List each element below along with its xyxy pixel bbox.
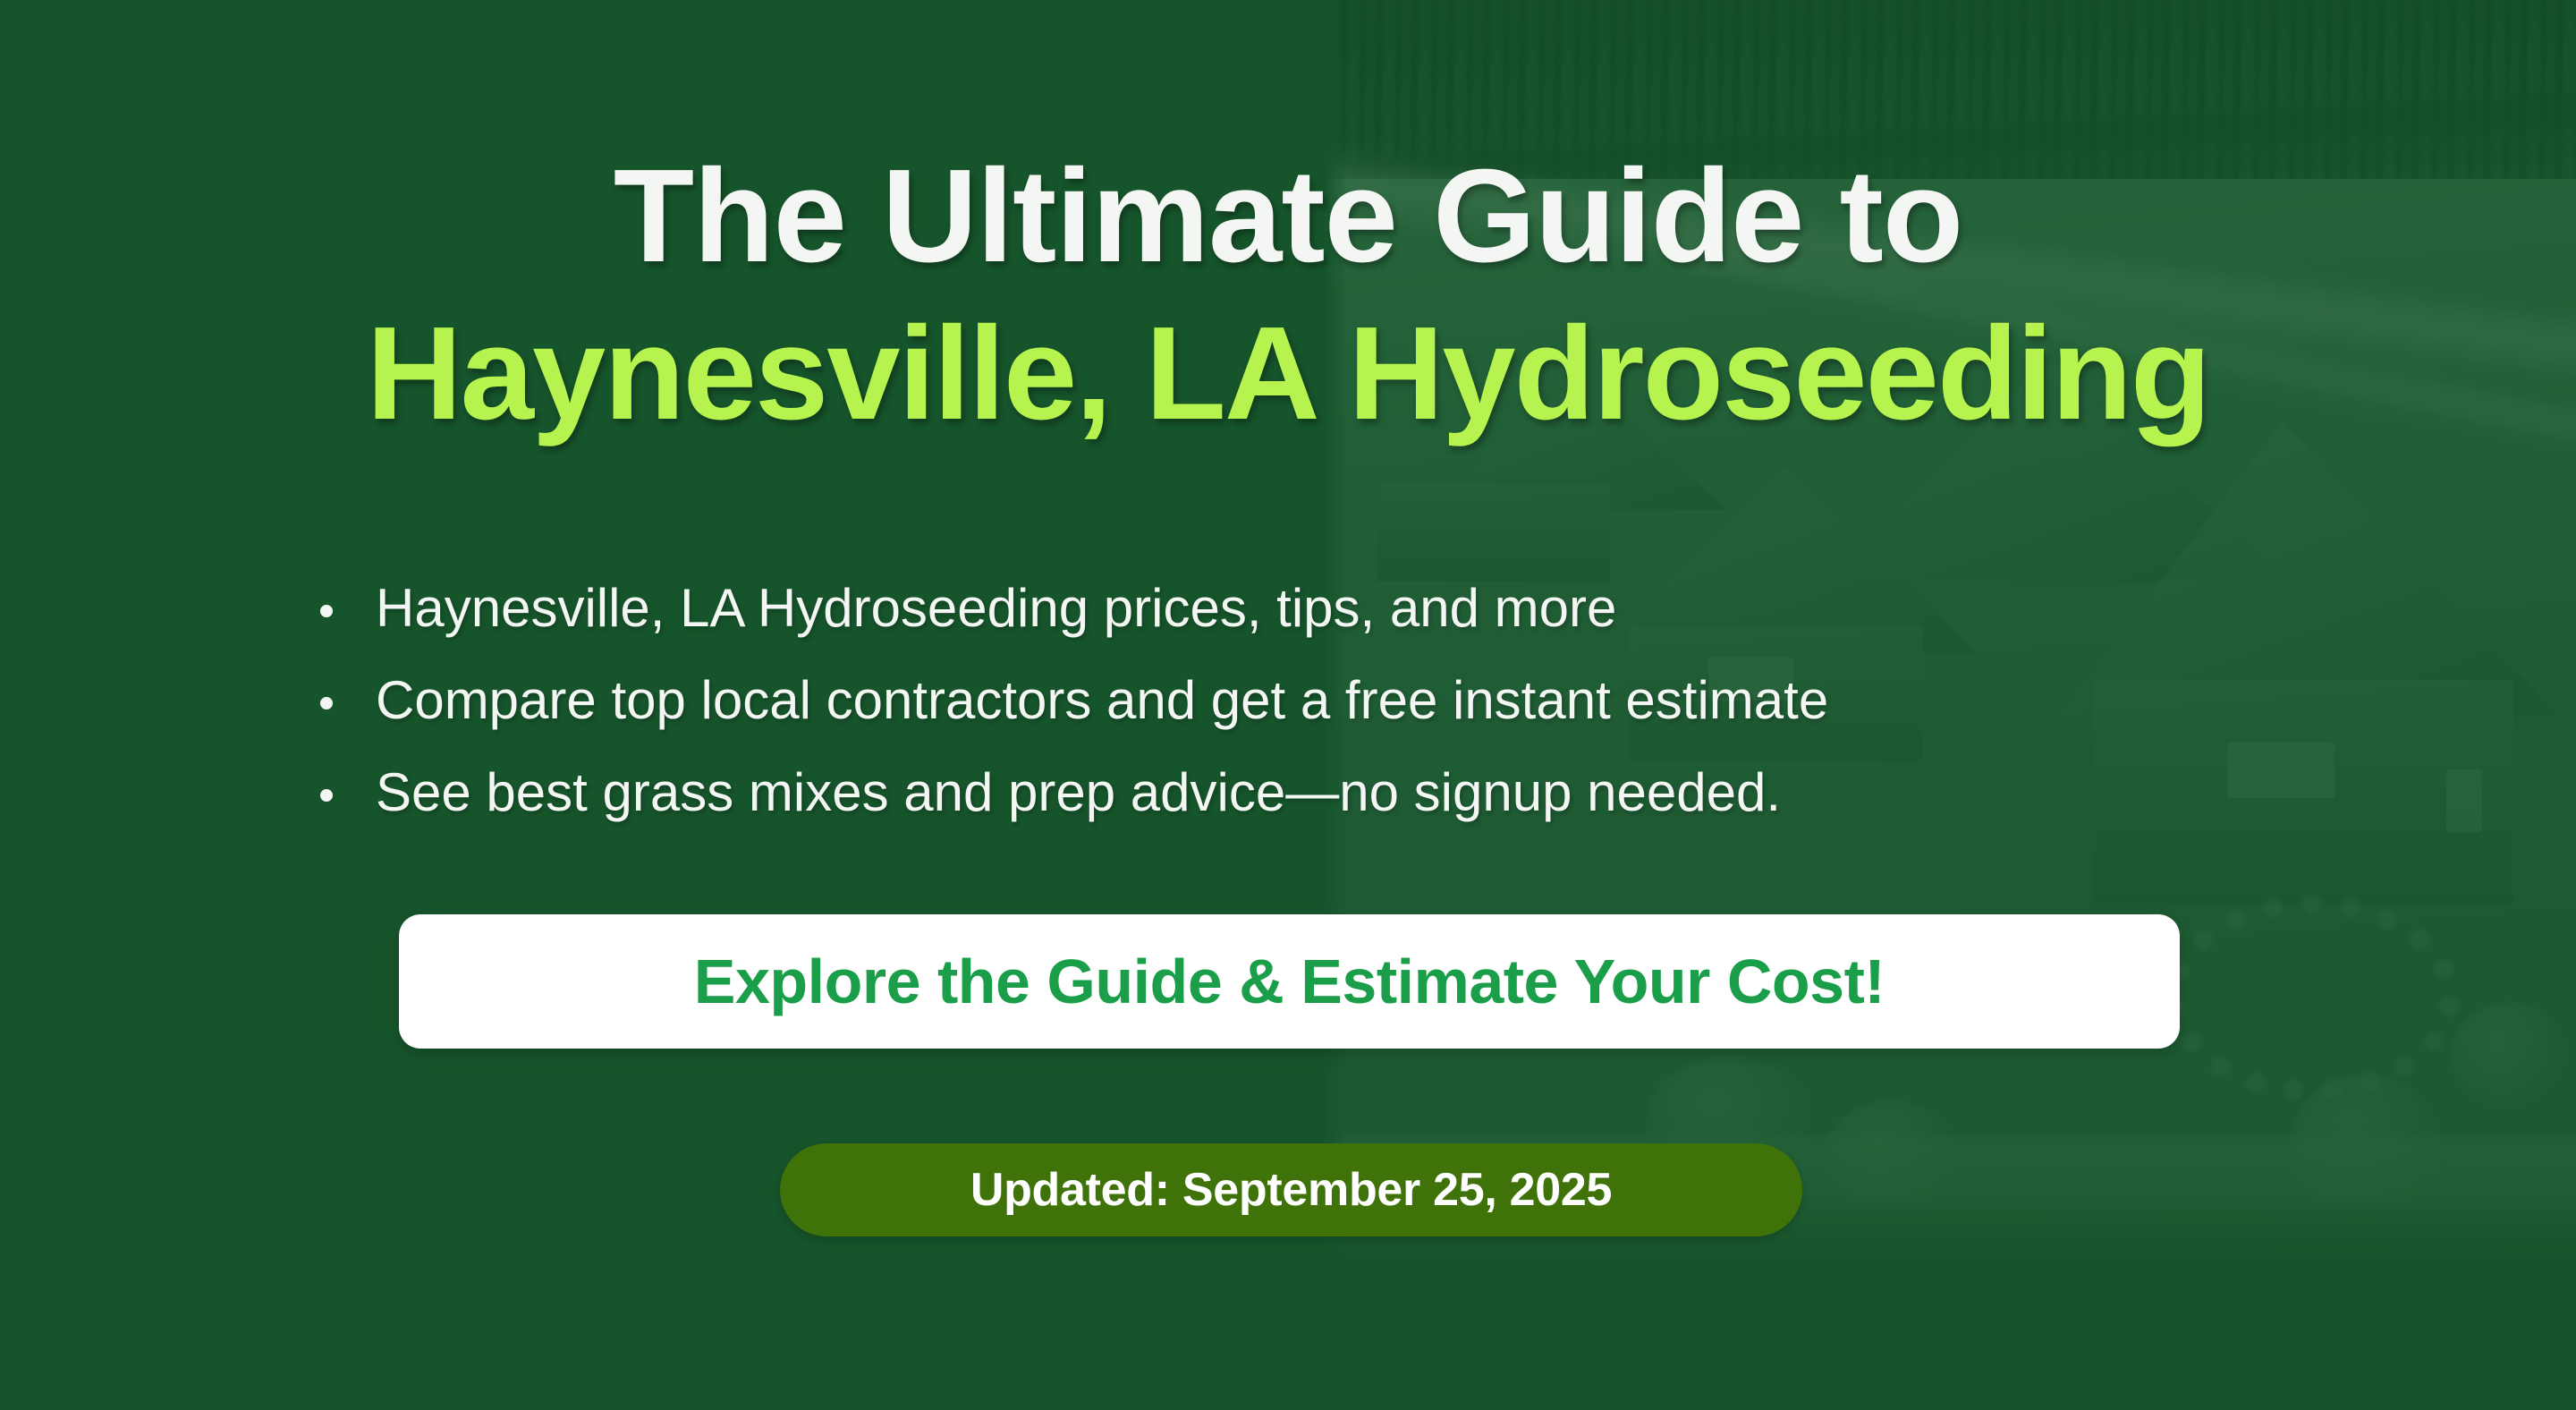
- hero-banner: The Ultimate Guide to Haynesville, LA Hy…: [0, 0, 2576, 1410]
- list-item: Haynesville, LA Hydroseeding prices, tip…: [376, 582, 1616, 635]
- hero-content: The Ultimate Guide to Haynesville, LA Hy…: [0, 0, 2576, 1410]
- page-title-line-1: The Ultimate Guide to: [614, 142, 1962, 290]
- page-title-line-2: Haynesville, LA Hydroseeding: [16, 308, 2560, 440]
- updated-badge: Updated: September 25, 2025: [780, 1143, 1802, 1236]
- benefit-list: Haynesville, LA Hydroseeding prices, tip…: [0, 582, 2576, 858]
- page-title: The Ultimate Guide to Haynesville, LA Hy…: [0, 150, 2576, 440]
- list-item: Compare top local contractors and get a …: [376, 674, 1828, 727]
- list-item: See best grass mixes and prep advice—no …: [376, 766, 1781, 820]
- explore-guide-button[interactable]: Explore the Guide & Estimate Your Cost!: [399, 914, 2180, 1049]
